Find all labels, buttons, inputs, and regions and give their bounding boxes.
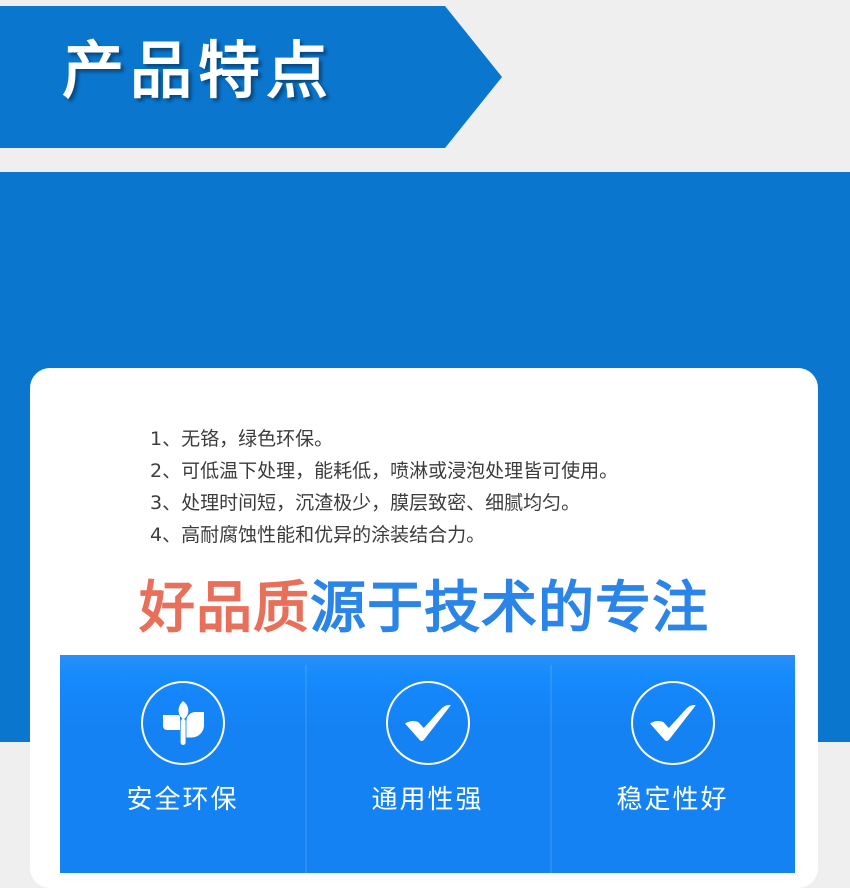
- feature-item-label: 稳定性好: [616, 783, 728, 817]
- check-icon-circle: [386, 681, 470, 765]
- feature-line-2: 2、可低温下处理，能耗低，喷淋或浸泡处理皆可使用。: [150, 455, 790, 487]
- feature-item-versatility[interactable]: 通用性强: [305, 655, 550, 873]
- blue-outer-frame: 1、无铬，绿色环保。 2、可低温下处理，能耗低，喷淋或浸泡处理皆可使用。 3、处…: [0, 172, 850, 742]
- feature-item-label: 安全环保: [126, 783, 238, 817]
- sprout-icon: [157, 697, 209, 749]
- page-title: 产品特点: [62, 29, 334, 115]
- check-icon: [648, 702, 698, 744]
- feature-line-3: 3、处理时间短，沉渣极少，膜层致密、细腻均匀。: [150, 487, 790, 519]
- slogan-red-text: 好品质: [139, 576, 310, 639]
- slogan: 好品质源于技术的专注: [30, 573, 818, 643]
- check-icon: [403, 702, 453, 744]
- sprout-icon-circle: [141, 681, 225, 765]
- feature-item-safety[interactable]: 安全环保: [60, 655, 305, 873]
- check-icon-circle: [631, 681, 715, 765]
- feature-item-stability[interactable]: 稳定性好: [550, 655, 795, 873]
- content-card: 1、无铬，绿色环保。 2、可低温下处理，能耗低，喷淋或浸泡处理皆可使用。 3、处…: [30, 368, 818, 888]
- slogan-blue-text: 源于技术的专注: [310, 576, 709, 639]
- feature-item-label: 通用性强: [371, 783, 483, 817]
- feature-list: 1、无铬，绿色环保。 2、可低温下处理，能耗低，喷淋或浸泡处理皆可使用。 3、处…: [150, 423, 790, 551]
- feature-line-1: 1、无铬，绿色环保。: [150, 423, 790, 455]
- feature-band: 安全环保 通用性强: [60, 655, 795, 873]
- feature-line-4: 4、高耐腐蚀性能和优异的涂装结合力。: [150, 519, 790, 551]
